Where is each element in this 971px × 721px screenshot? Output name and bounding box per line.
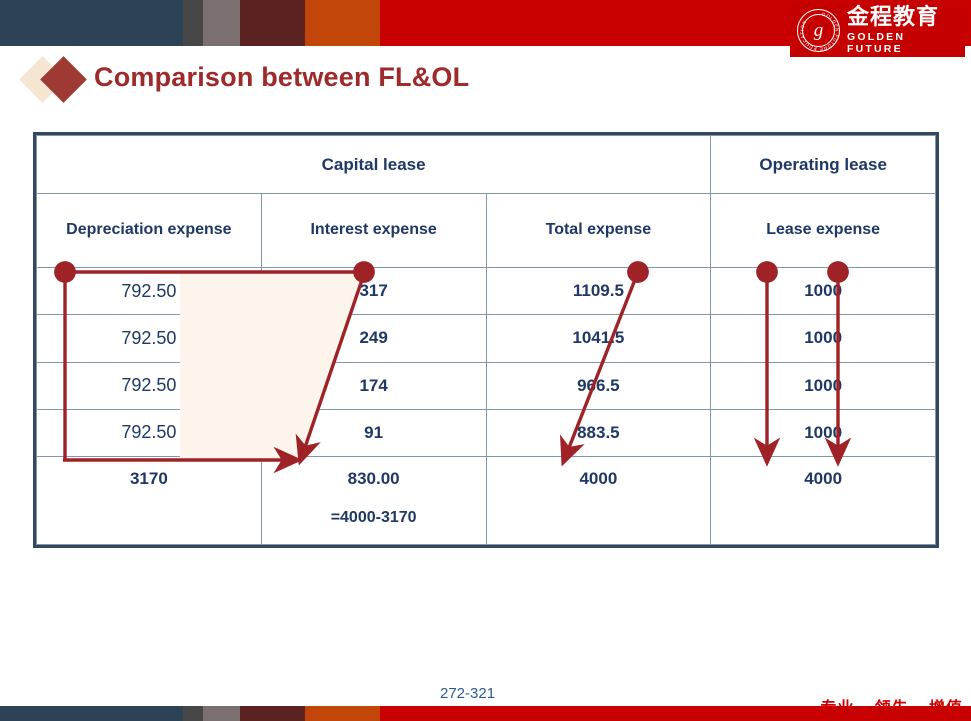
top-band-mid-gray [203, 0, 240, 46]
cell-total: 1109.5 [486, 268, 711, 315]
total-interest-value: 830.00 [348, 469, 400, 488]
brand-logo: GOLDEN FUTURE EDUCATION g 金程教育 GOLDEN FU… [790, 4, 965, 57]
bottom-band-dark-gray [183, 706, 203, 721]
cell-total: 883.5 [486, 409, 711, 456]
cell-total: 1041.5 [486, 315, 711, 362]
total-total-expense: 4000 [486, 456, 711, 544]
logo-wordmark: 金程教育 GOLDEN FUTURE [847, 6, 965, 55]
top-band-orange [305, 0, 380, 46]
page-number: 272-321 [440, 685, 495, 702]
bottom-color-bar [0, 706, 971, 721]
cell-total: 966.5 [486, 362, 711, 409]
bottom-band-orange [305, 706, 380, 721]
bottom-band-mid-gray [203, 706, 240, 721]
cell-interest: 317 [261, 268, 486, 315]
slide-title: Comparison between FL&OL [94, 62, 469, 93]
table-totals-row: 3170 830.00 =4000-3170 4000 4000 [37, 456, 936, 544]
total-depreciation: 3170 [37, 456, 262, 544]
table-row: 792.50 174 966.5 1000 [37, 362, 936, 409]
cell-lease: 1000 [711, 268, 936, 315]
top-band-dark-gray [183, 0, 203, 46]
lease-comparison-table: Capital lease Operating lease Depreciati… [33, 132, 939, 548]
column-header-depreciation-expense: Depreciation expense [37, 194, 262, 268]
table-group-header-row: Capital lease Operating lease [37, 136, 936, 194]
bottom-band-maroon [240, 706, 305, 721]
column-header-total-expense: Total expense [486, 194, 711, 268]
total-interest: 830.00 =4000-3170 [261, 456, 486, 544]
column-header-interest-expense: Interest expense [261, 194, 486, 268]
logo-name-en: GOLDEN FUTURE [847, 31, 965, 55]
bottom-band-red [380, 706, 971, 721]
table-row: 792.50 91 883.5 1000 [37, 409, 936, 456]
cell-depreciation: 792.50 [37, 268, 262, 315]
group-header-operating-lease: Operating lease [711, 136, 936, 194]
total-lease-expense: 4000 [711, 456, 936, 544]
cell-lease: 1000 [711, 409, 936, 456]
seal-monogram: g [798, 10, 839, 51]
group-header-capital-lease: Capital lease [37, 136, 711, 194]
cell-depreciation: 792.50 [37, 409, 262, 456]
cell-interest: 91 [261, 409, 486, 456]
table-column-header-row: Depreciation expense Interest expense To… [37, 194, 936, 268]
cell-lease: 1000 [711, 315, 936, 362]
cell-depreciation: 792.50 [37, 315, 262, 362]
cell-depreciation: 792.50 [37, 362, 262, 409]
column-header-lease-expense: Lease expense [711, 194, 936, 268]
total-interest-note: =4000-3170 [262, 509, 486, 527]
table-row: 792.50 317 1109.5 1000 [37, 268, 936, 315]
table-row: 792.50 249 1041.5 1000 [37, 315, 936, 362]
cell-lease: 1000 [711, 362, 936, 409]
bottom-band-navy [0, 706, 183, 721]
logo-seal-icon: GOLDEN FUTURE EDUCATION g [797, 9, 840, 52]
top-band-maroon [240, 0, 305, 46]
top-band-navy [0, 0, 183, 46]
logo-name-cn: 金程教育 [847, 6, 965, 29]
cell-interest: 174 [261, 362, 486, 409]
cell-interest: 249 [261, 315, 486, 362]
